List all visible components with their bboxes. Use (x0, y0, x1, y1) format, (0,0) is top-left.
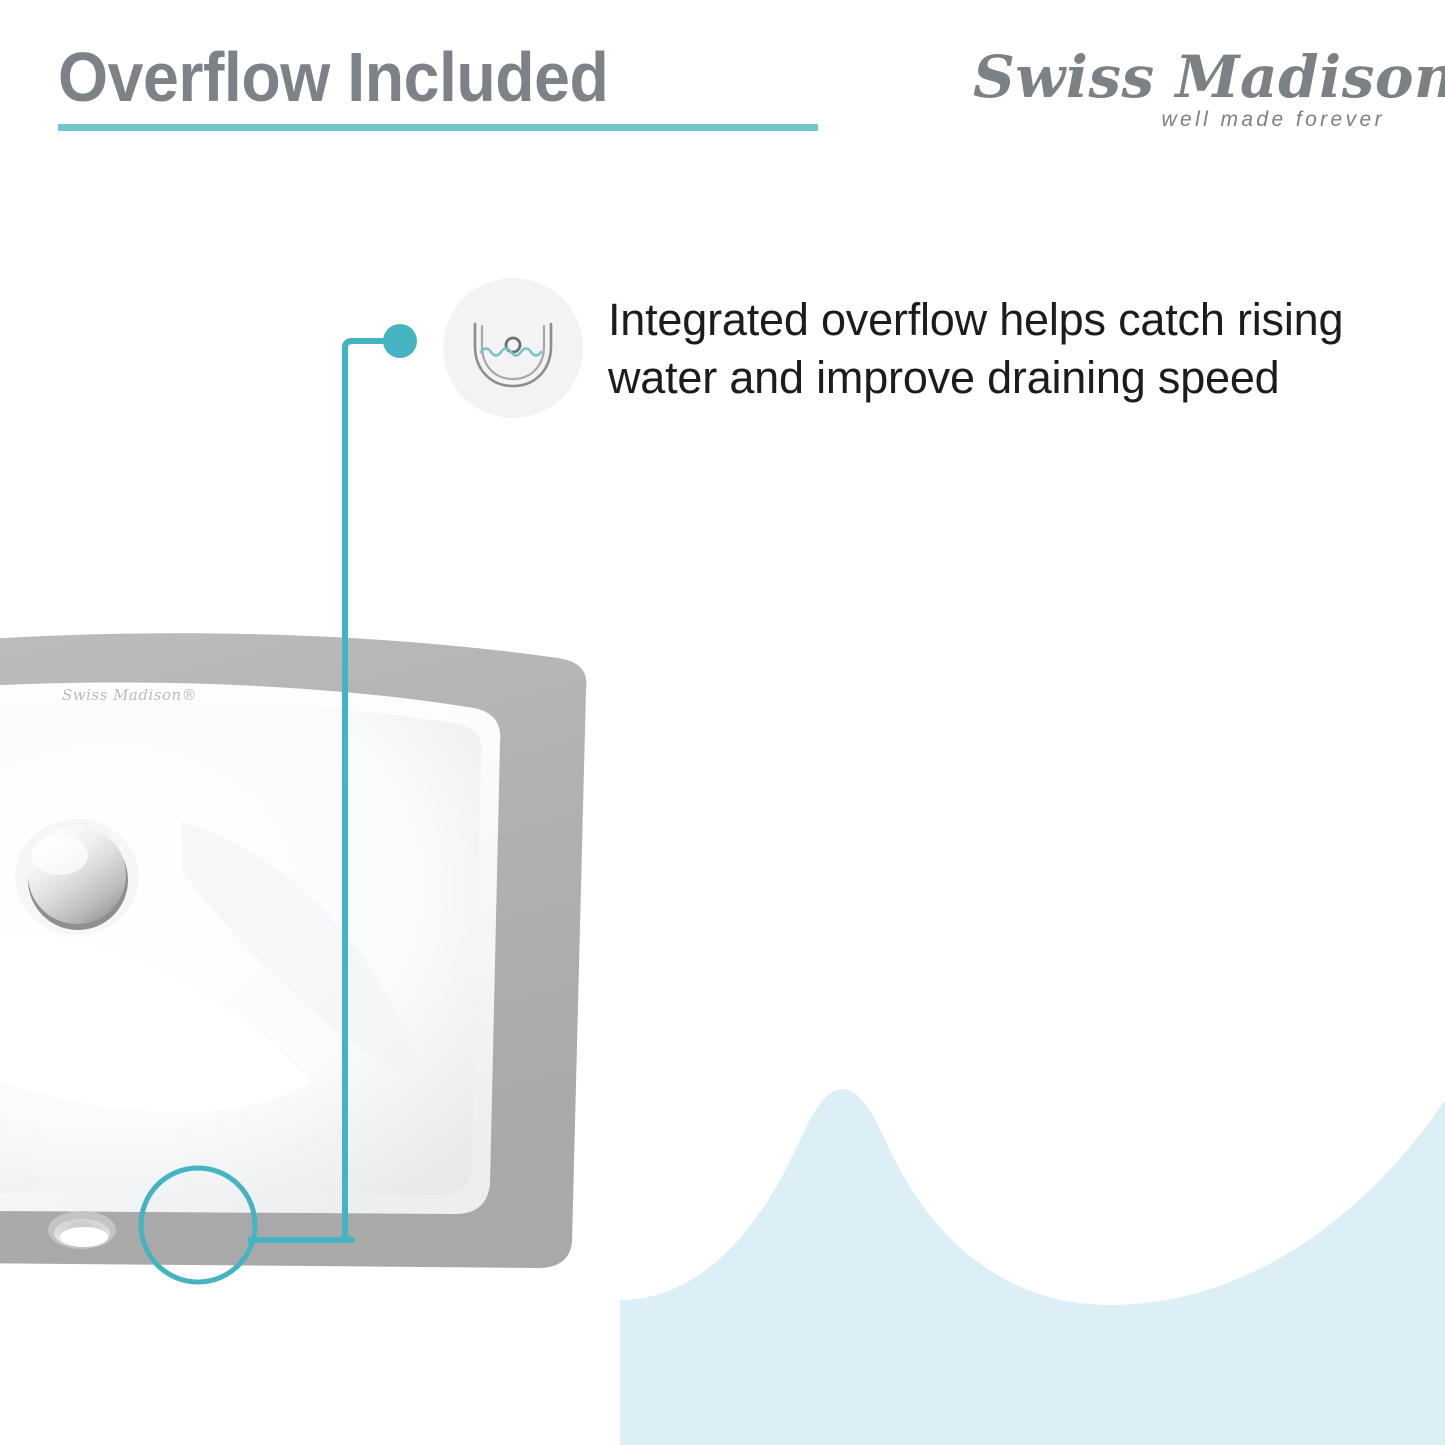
feature-callout: Integrated overflow helps catch rising w… (443, 278, 1403, 423)
brand-wordmark: Swiss Madison® (973, 48, 1393, 106)
feature-description-line-2: water and improve draining speed (608, 349, 1398, 407)
brand-tagline: well made forever (973, 108, 1393, 132)
feature-description-line-1: Integrated overflow helps catch rising (608, 291, 1398, 349)
callout-anchor-dot (383, 324, 417, 358)
embossed-brand-logo: Swiss Madison® (62, 686, 197, 704)
brand-logo: Swiss Madison® well made forever (973, 48, 1393, 148)
drain-specular (32, 835, 88, 875)
overflow-hole-inner (60, 1227, 108, 1247)
undermount-sink-photo: Swiss Madison® (0, 612, 682, 1292)
feature-description: Integrated overflow helps catch rising w… (608, 291, 1398, 406)
product-feature-infographic: Overflow Included Swiss Madison® well ma… (0, 0, 1445, 1445)
page-title: Overflow Included (58, 42, 608, 112)
title-underline (58, 124, 818, 131)
brand-wordmark-text: Swiss Madison (973, 43, 1445, 111)
basin-overflow-icon (457, 296, 569, 400)
